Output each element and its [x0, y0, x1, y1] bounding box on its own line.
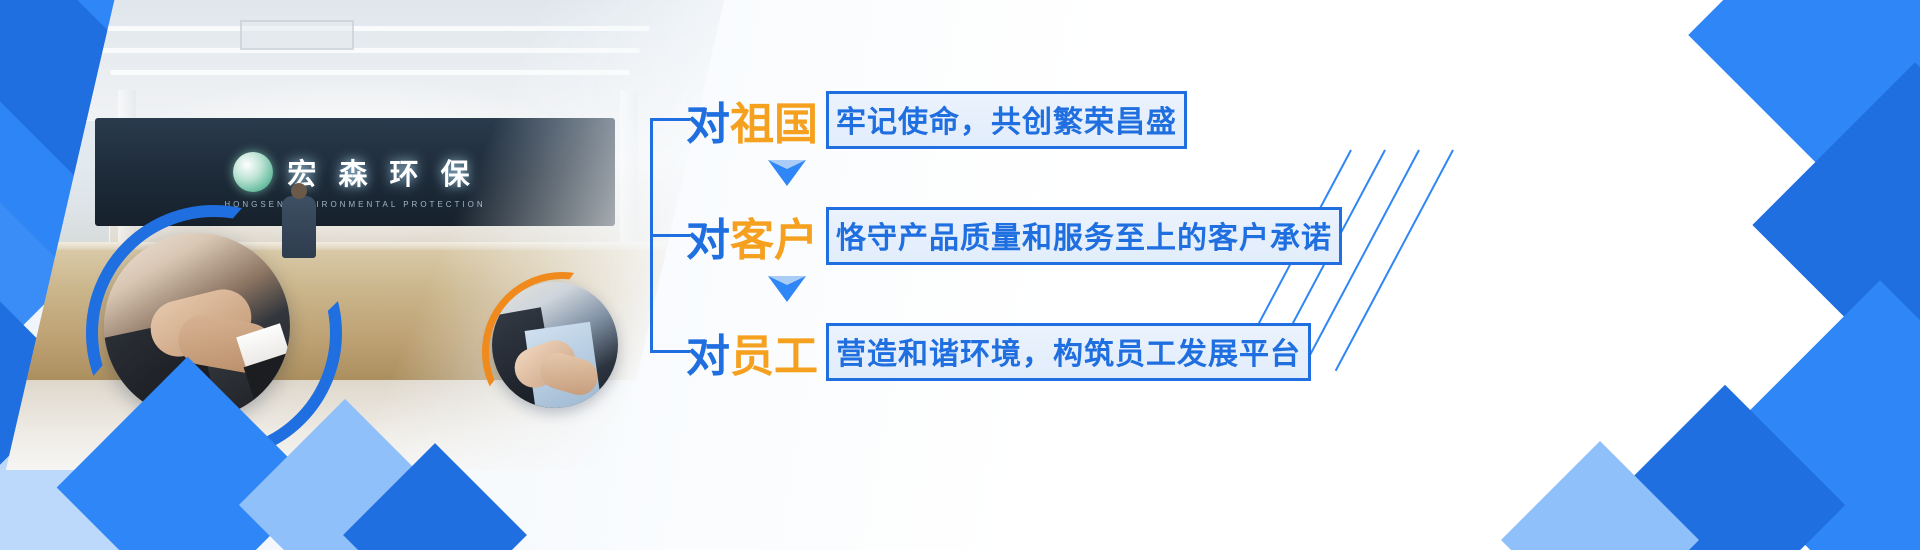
company-name: 宏 森 环 保: [287, 151, 476, 193]
slogan-tag-2: 恪守产品质量和服务至上的客户承诺: [826, 207, 1342, 265]
decor-diamond-bottom-right-3: [1501, 441, 1699, 550]
slogan-lead-1: 对祖国: [686, 88, 818, 152]
slogan-lead-prefix-3: 对: [686, 331, 730, 382]
slogan-lead-keyword-1: 祖国: [730, 99, 818, 150]
chevron-down-icon: [768, 160, 806, 186]
decor-diamond-bottom-right-1: [1710, 280, 1920, 550]
ceiling-strip: [80, 48, 640, 53]
slogan-lead-keyword-3: 员工: [730, 331, 818, 382]
slogan-lead-keyword-2: 客户: [730, 215, 818, 266]
company-sign: 宏 森 环 保: [95, 118, 615, 226]
decor-diamond-bottom-right-2: [1605, 385, 1845, 550]
slogan-row-3: 对员工 营造和谐环境，构筑员工发展平台: [686, 320, 1311, 384]
decor-diamond-top-right-1: [1688, 0, 1920, 212]
decor-diamond-right-1: [1752, 62, 1920, 387]
slogan-row-2: 对客户 恪守产品质量和服务至上的客户承诺: [686, 204, 1342, 268]
ceiling-vent: [240, 20, 354, 50]
office-reception-photo: 宏 森 环 保 HONGSEN ENVIRONMENTAL PROTECTION: [6, 0, 725, 470]
slogan-lead-3: 对员工: [686, 320, 818, 384]
globe-leaf-icon: [233, 152, 273, 192]
bracket-tick-2: [650, 234, 690, 237]
chevron-down-icon: [768, 276, 806, 302]
receptionist-figure: [282, 196, 316, 258]
slogan-lead-2: 对客户: [686, 204, 818, 268]
promo-banner: 宏 森 环 保 HONGSEN ENVIRONMENTAL PROTECTION: [0, 0, 1920, 550]
slogan-block: 对祖国 牢记使命，共创繁荣昌盛 对客户 恪守产品质量和服务至上的客户承诺 对员工…: [650, 0, 1370, 550]
reception-sign-board: 宏 森 环 保 HONGSEN ENVIRONMENTAL PROTECTION: [95, 118, 615, 226]
slogan-lead-prefix-1: 对: [686, 99, 730, 150]
slogan-lead-prefix-2: 对: [686, 215, 730, 266]
slogan-row-1: 对祖国 牢记使命，共创繁荣昌盛: [686, 88, 1187, 152]
bracket-tick-3: [650, 350, 690, 353]
floor: [6, 380, 725, 470]
bracket-tick-1: [650, 118, 690, 121]
office-photo-inner: 宏 森 环 保 HONGSEN ENVIRONMENTAL PROTECTION: [6, 0, 725, 470]
decor-diagonal-lines: [1350, 150, 1610, 420]
company-subtitle: HONGSEN ENVIRONMENTAL PROTECTION: [224, 200, 485, 209]
slogan-tag-1: 牢记使命，共创繁荣昌盛: [826, 91, 1187, 149]
ceiling-strip: [110, 70, 630, 75]
slogan-tag-3: 营造和谐环境，构筑员工发展平台: [826, 323, 1311, 381]
